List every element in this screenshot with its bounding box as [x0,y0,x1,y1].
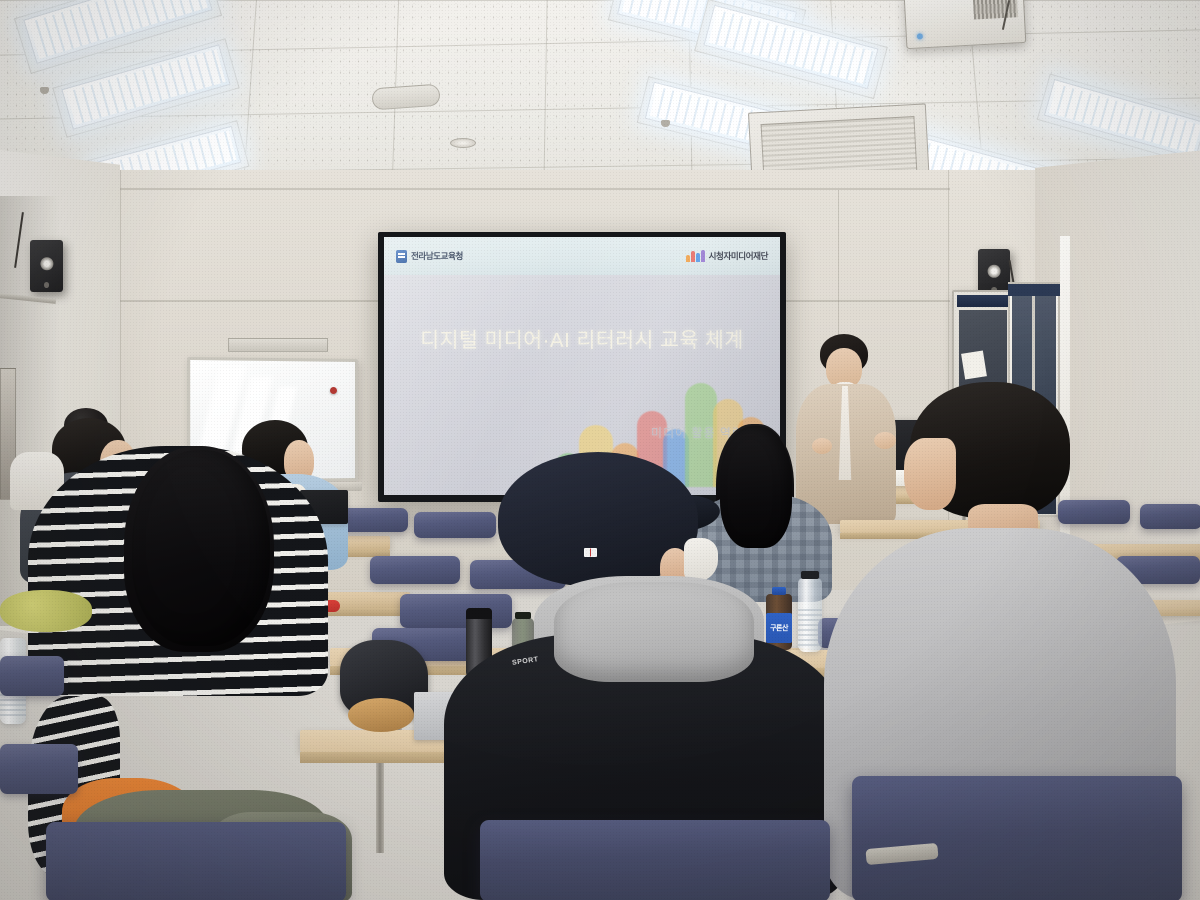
classroom-scene: 전라남도교육청 시청자미디어재단 디지털 미디어·AI 리터러시 교육 체계 [0,0,1200,900]
mlb-logo-icon [584,548,597,557]
wooden-object [348,698,414,732]
door-header [1008,284,1060,296]
sprinkler-head [661,120,670,127]
lecture-chair[interactable] [46,822,346,900]
lecture-chair[interactable] [370,556,460,584]
yellow-knit-item [0,590,92,632]
lecture-chair[interactable] [852,776,1182,900]
gray-hoodie-overlay [554,582,754,682]
lecture-chair[interactable] [0,744,78,794]
wall-vent [228,338,328,352]
education-office-emblem-icon [396,250,407,263]
slide-logo-left: 전라남도교육청 [396,250,463,263]
whiteboard-magnet [330,387,337,394]
lecture-chair[interactable] [0,656,64,696]
slide-header: 전라남도교육청 시청자미디어재단 [384,237,780,275]
sprinkler-head [40,87,49,94]
slide-left-org-label: 전라남도교육청 [411,250,463,262]
slide-right-org-label: 시청자미디어재단 [709,250,768,262]
wall-speaker-left [30,240,63,292]
slide-logo-right: 시청자미디어재단 [686,250,768,262]
cmf-logo-icon [686,250,705,262]
ceiling-downlight [450,138,476,148]
face-mask [684,538,718,582]
slide-title: 디지털 미디어·AI 리터러시 교육 체계 [384,323,780,353]
long-hair-overlay [132,450,270,646]
lecture-chair[interactable] [480,820,830,900]
face [904,438,956,510]
desk-leg [376,763,384,853]
ceiling-air-diffuser [371,84,440,111]
